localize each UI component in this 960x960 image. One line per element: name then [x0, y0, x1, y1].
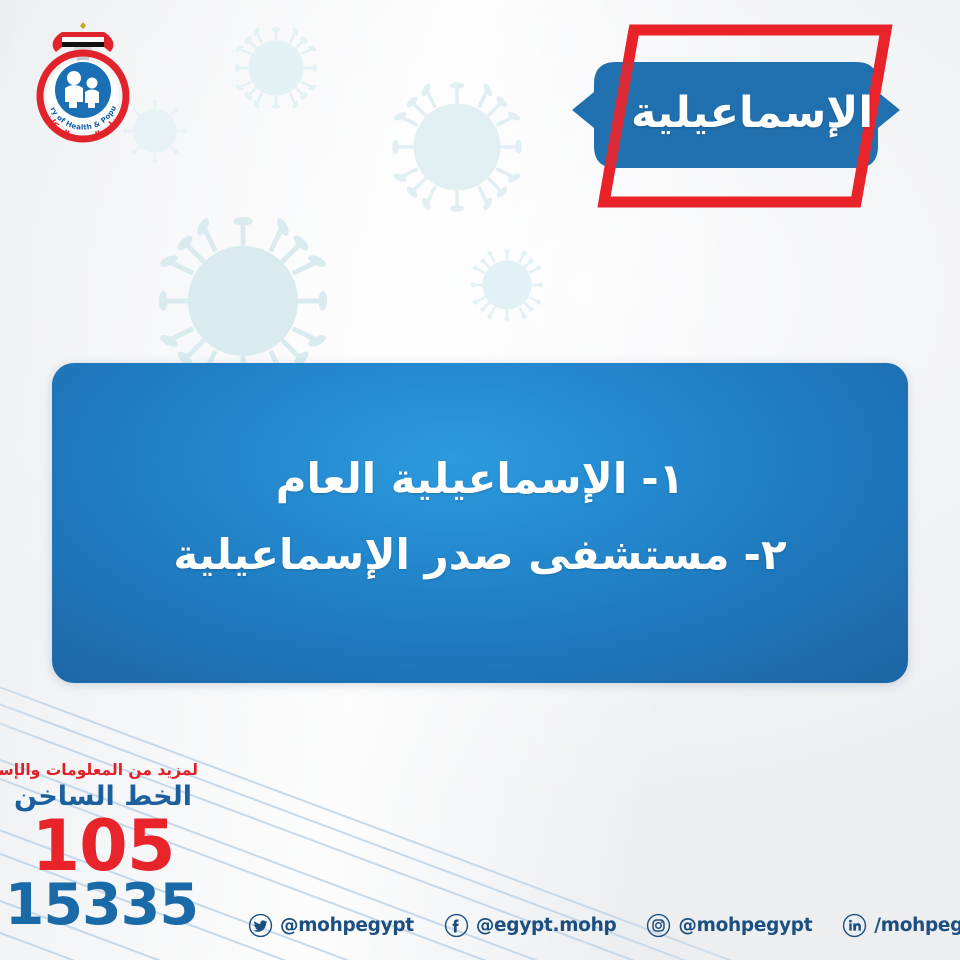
list-item-marker: ٢- — [744, 530, 787, 580]
facebook-icon[interactable] — [444, 913, 469, 938]
ministry-logo: Ministry of Health & Population وزارة ال… — [22, 16, 144, 144]
virus-particle-icon — [230, 22, 322, 114]
banner-title: الإسماعيلية — [556, 22, 948, 210]
hotline-number-secondary: 15335 — [8, 878, 198, 932]
list-item-label: الإسماعيلية العام — [276, 454, 628, 504]
hotline-block: لمزيد من المعلومات والإستفسار الخط الساخ… — [8, 762, 198, 933]
social-handle: @mohpegypt — [678, 915, 812, 936]
social-account-linkedin[interactable]: /mohpegypt — [842, 913, 960, 938]
infographic-canvas: Ministry of Health & Population وزارة ال… — [0, 0, 960, 960]
hotline-subtitle: لمزيد من المعلومات والإستفسار — [8, 762, 198, 779]
list-item: ١- الإسماعيلية العام — [86, 454, 874, 504]
list-item: ٢- مستشفى صدر الإسماعيلية — [86, 530, 874, 580]
social-handle: /mohpegypt — [874, 915, 960, 936]
list-item-marker: ١- — [641, 454, 684, 504]
social-handle: @mohpegypt — [280, 915, 414, 936]
linkedin-icon[interactable] — [842, 913, 867, 938]
social-account-facebook[interactable]: @egypt.mohp — [444, 913, 617, 938]
hospital-list-panel: ١- الإسماعيلية العام ٢- مستشفى صدر الإسم… — [52, 363, 908, 683]
title-banner: الإسماعيلية — [556, 22, 948, 210]
virus-particle-icon — [382, 72, 532, 222]
social-account-instagram[interactable]: @mohpegypt — [646, 913, 812, 938]
list-item-label: مستشفى صدر الإسماعيلية — [173, 530, 729, 580]
hospital-list: ١- الإسماعيلية العام ٢- مستشفى صدر الإسم… — [52, 363, 908, 683]
social-media-bar: @mohpegypt @egypt.mohp @mohpegypt — [248, 902, 948, 948]
hotline-number-primary: 105 — [8, 814, 198, 878]
virus-particle-icon — [466, 244, 548, 326]
social-account-twitter[interactable]: @mohpegypt — [248, 913, 414, 938]
social-handle: @egypt.mohp — [476, 915, 617, 936]
instagram-icon[interactable] — [646, 913, 671, 938]
twitter-icon[interactable] — [248, 913, 273, 938]
